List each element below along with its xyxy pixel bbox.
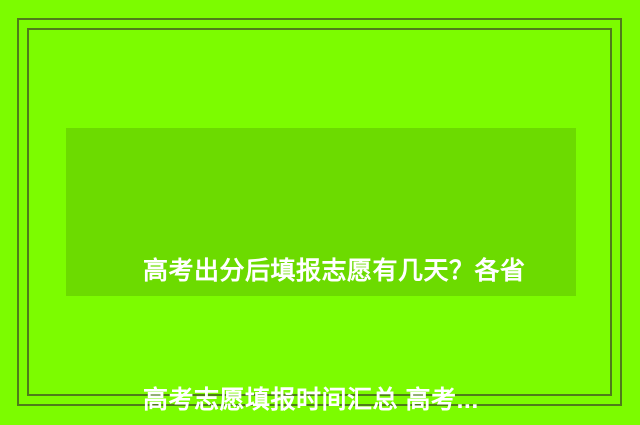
headline-line-1: 高考出分后填报志愿有几天？各省 <box>143 250 543 293</box>
headline-line-2: 高考志愿填报时间汇总 高考... <box>143 379 543 422</box>
thumbnail-card: 高考出分后填报志愿有几天？各省 高考志愿填报时间汇总 高考... <box>0 0 640 425</box>
headline-block: 高考出分后填报志愿有几天？各省 高考志愿填报时间汇总 高考... <box>143 164 543 425</box>
